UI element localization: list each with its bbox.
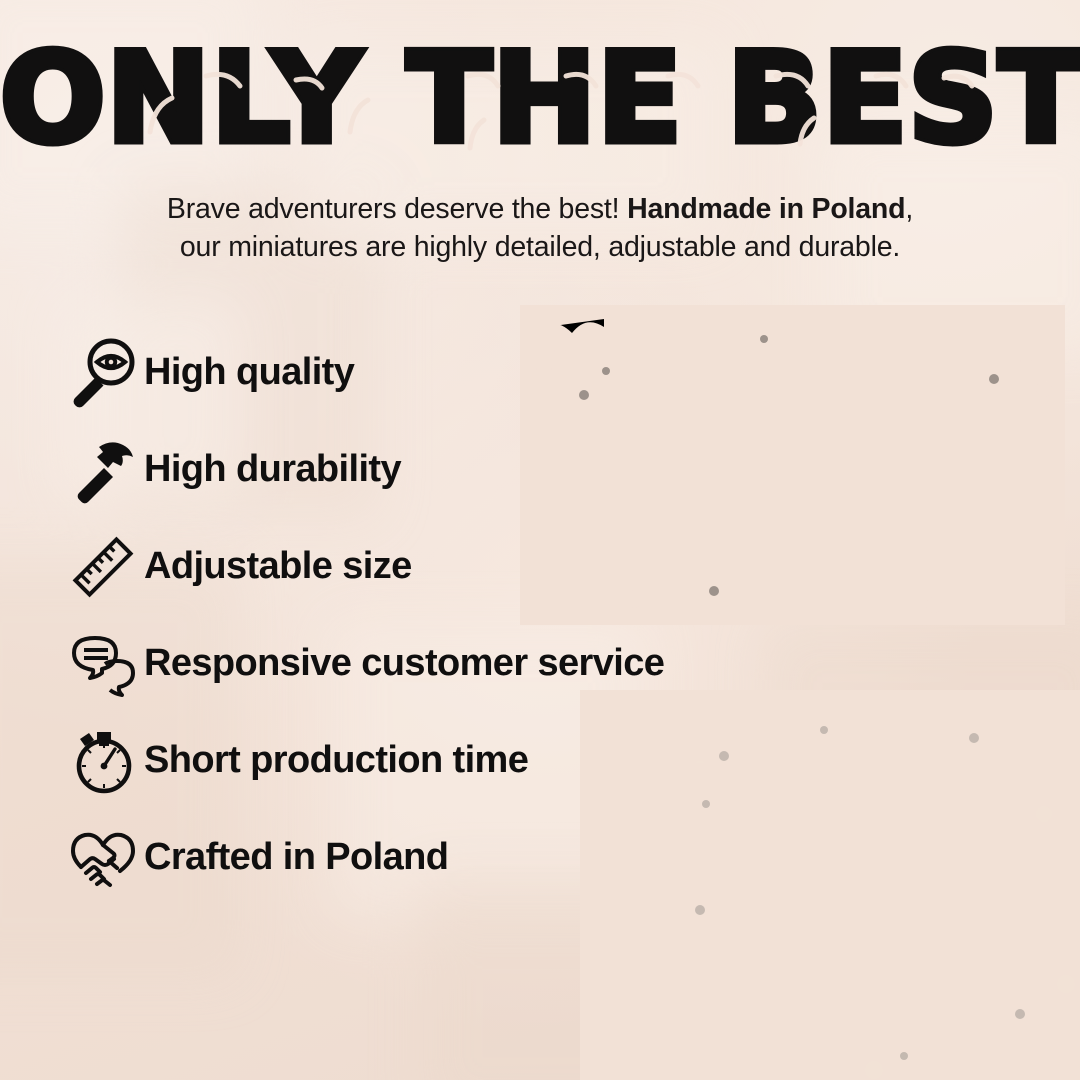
- resin-miniature-part: [520, 305, 1065, 625]
- stopwatch-icon: [62, 723, 144, 799]
- subtitle-line1-bold: Handmade in Poland: [627, 193, 905, 225]
- workshop-crafting-photo: [580, 690, 1080, 1080]
- feature-label: High quality: [144, 351, 354, 394]
- poster-canvas: ONLY THE BEST Brave adventurers deserve …: [0, 0, 1080, 1080]
- subtitle-line1-prefix: Brave adventurers deserve the best!: [167, 193, 627, 225]
- magnifier-eye-icon: [62, 335, 144, 411]
- subtitle: Brave adventurers deserve the best! Hand…: [60, 190, 1020, 266]
- dragon-miniature: [732, 782, 922, 952]
- miniature-tray-right: [880, 734, 1060, 754]
- feature-label: Adjustable size: [144, 545, 412, 588]
- headline-text: ONLY THE BEST: [0, 27, 1080, 171]
- loose-miniatures: [950, 980, 1070, 1070]
- feature-label: High durability: [144, 448, 401, 491]
- miniature-tray-top: [740, 714, 870, 732]
- subtitle-line2: our miniatures are highly detailed, adju…: [180, 231, 900, 263]
- feature-label: Crafted in Poland: [144, 836, 448, 879]
- page-title: ONLY THE BEST: [0, 36, 1080, 162]
- flexible-miniature-photo: [520, 305, 1065, 625]
- feature-label: Responsive customer service: [144, 642, 664, 685]
- subtitle-line1-suffix: ,: [905, 193, 913, 225]
- heart-handshake-icon: [62, 820, 144, 896]
- speech-bubbles-icon: [62, 626, 144, 702]
- ruler-icon: [62, 529, 144, 605]
- feature-label: Short production time: [144, 739, 528, 782]
- hammer-icon: [62, 432, 144, 508]
